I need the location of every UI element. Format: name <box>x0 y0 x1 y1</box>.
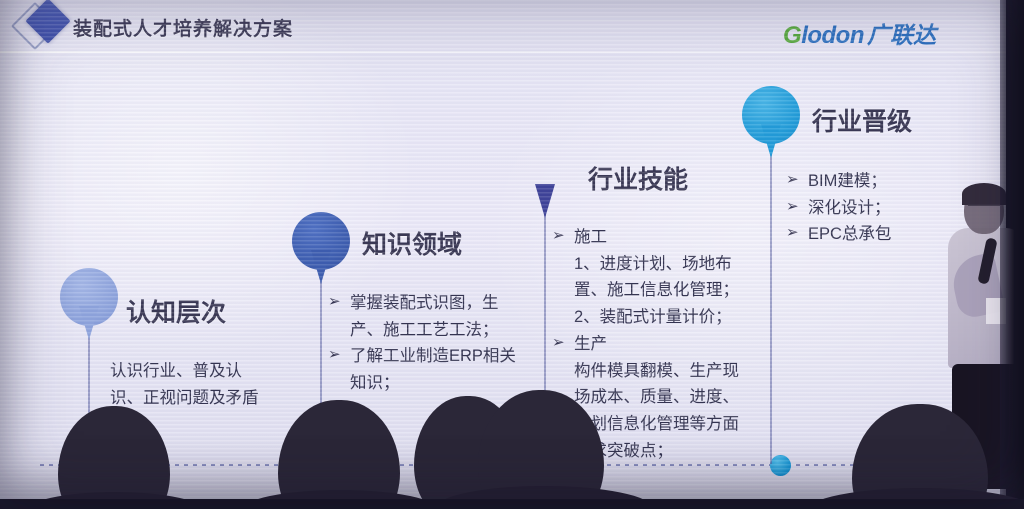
stage-2-title: 知识领域 <box>362 225 462 261</box>
stage-4-bullet-2: ➢深化设计； <box>786 195 891 222</box>
arrow-bullet-icon: ➢ <box>328 290 341 314</box>
map-pin-icon <box>516 146 574 204</box>
stage-4-body: ➢BIM建模； ➢深化设计； ➢EPC总承包 <box>786 168 891 248</box>
arrow-bullet-icon: ➢ <box>786 195 799 219</box>
stage-2-line-4: 知识； <box>328 370 516 397</box>
stage-4-title: 行业晋级 <box>812 102 912 138</box>
stage-2-bullet-1: ➢掌握装配式识图，生 <box>328 290 516 317</box>
stage-2-body: ➢掌握装配式识图，生 产、施工工艺工法； ➢了解工业制造ERP相关 知识； <box>328 290 516 397</box>
stage-3-line-6: 构件模具翻模、生产现 <box>552 358 739 385</box>
stage-1-line-2: 识、正视问题及矛盾 <box>110 385 259 412</box>
brand-chinese: 广联达 <box>867 22 936 48</box>
stage-2-line-2: 产、施工工艺工法； <box>328 317 516 344</box>
timeline-end-dot <box>770 455 791 476</box>
map-pin-icon <box>742 86 800 144</box>
stage-3-line-4: 2、装配式计量计价； <box>552 304 739 331</box>
stage-2-bullet-2: ➢了解工业制造ERP相关 <box>328 343 516 370</box>
arrow-bullet-icon: ➢ <box>552 331 565 355</box>
stage-3-line-3: 置、施工信息化管理； <box>552 277 739 304</box>
slide-header: 装配式人才培养解决方案 Glodon广联达 <box>0 0 1006 52</box>
screenshot-root: 装配式人才培养解决方案 Glodon广联达 认知层次 认识行业、普及认 识、正视… <box>0 0 1024 509</box>
stage-3-line-2: 1、进度计划、场地布 <box>552 251 739 278</box>
map-pin-icon <box>292 212 350 270</box>
header-divider <box>0 51 1006 53</box>
stage-1-title: 认知层次 <box>126 293 226 329</box>
arrow-bullet-icon: ➢ <box>328 343 341 367</box>
stage-3-title: 行业技能 <box>588 160 688 196</box>
diamond-logo-icon <box>18 3 76 49</box>
stage-3-bullet-1: ➢施工 <box>552 224 739 251</box>
brand-g: G <box>783 22 801 49</box>
stage-4-bullet-3: ➢EPC总承包 <box>786 221 891 248</box>
stage-3-bullet-2: ➢生产 <box>552 331 739 358</box>
arrow-bullet-icon: ➢ <box>786 168 799 192</box>
brand-lodon: lodon <box>801 22 864 49</box>
arrow-bullet-icon: ➢ <box>786 221 799 245</box>
stage-1-body: 认识行业、普及认 识、正视问题及矛盾 <box>110 358 259 411</box>
map-pin-icon <box>60 268 118 326</box>
arrow-bullet-icon: ➢ <box>552 224 565 248</box>
stage-1-line-1: 认识行业、普及认 <box>110 358 259 385</box>
stage-4-bullet-1: ➢BIM建模； <box>786 168 891 195</box>
room-dark-edge <box>1000 0 1024 509</box>
page-title: 装配式人才培养解决方案 <box>73 14 293 41</box>
glodon-brand-logo: Glodon广联达 <box>783 16 936 50</box>
